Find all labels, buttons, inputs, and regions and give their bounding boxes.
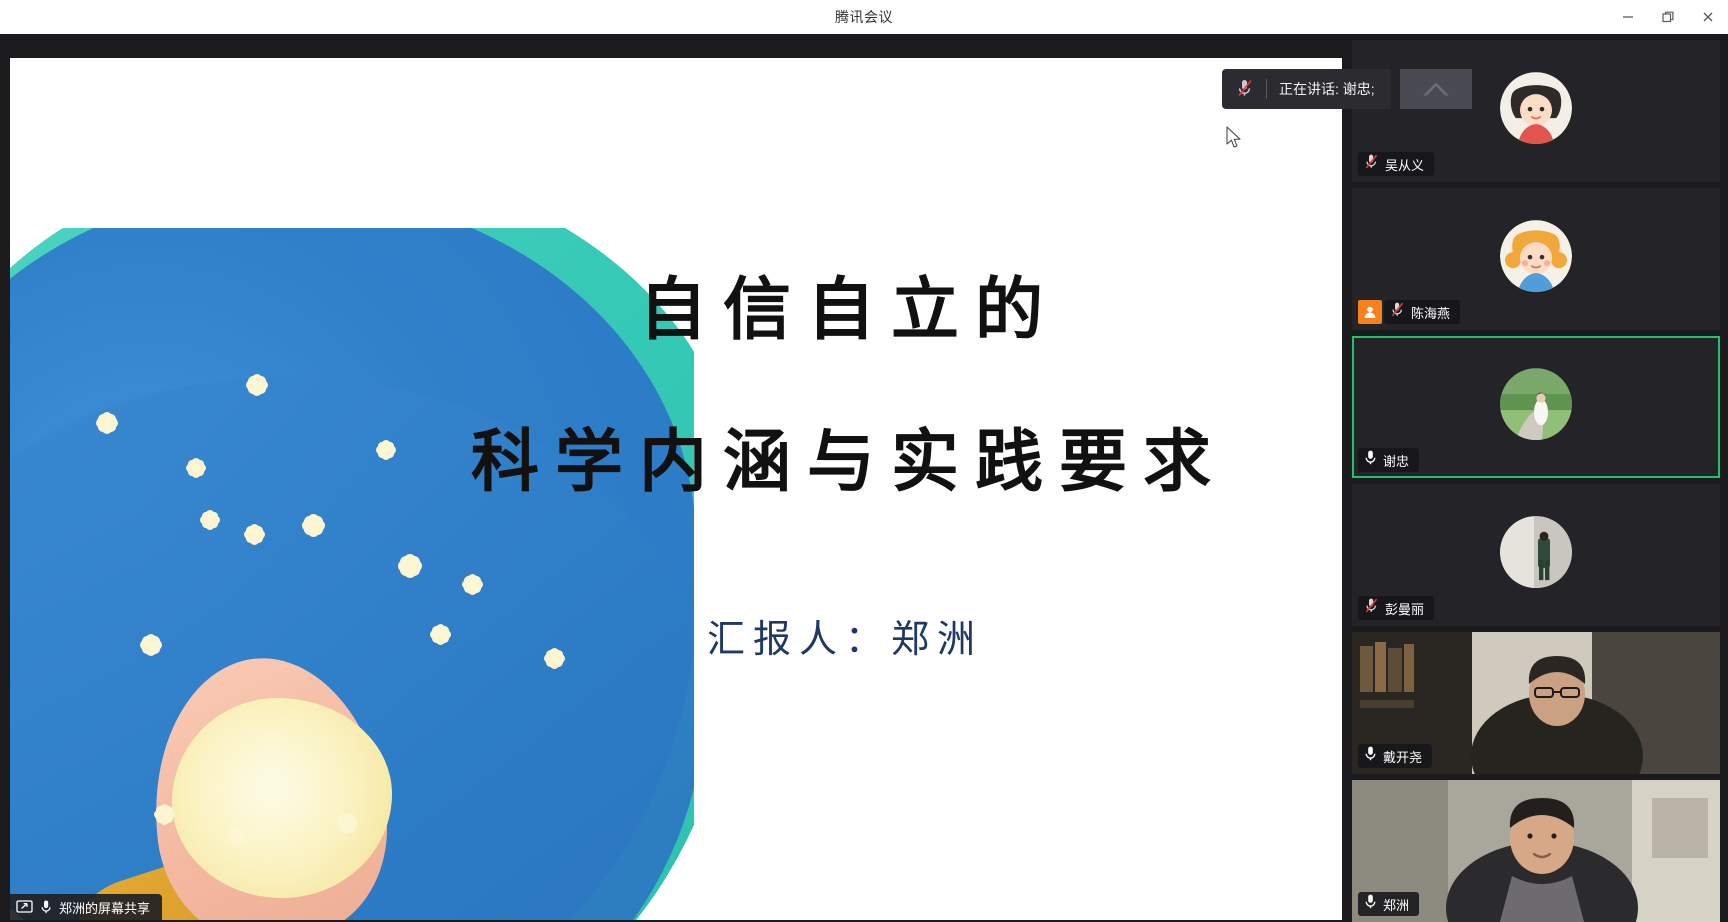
minimize-button[interactable] xyxy=(1608,0,1648,34)
host-badge xyxy=(1358,300,1382,324)
participant-tile[interactable]: 陈海燕 xyxy=(1352,188,1720,330)
flower-icon xyxy=(144,638,158,652)
slide-text-block: 自信自立的 科学内涵与实践要求 汇报人：郑洲 xyxy=(340,58,1342,920)
avatar xyxy=(1500,516,1572,588)
mic-on-icon xyxy=(1364,893,1377,915)
participant-name-pill: 陈海燕 xyxy=(1384,300,1460,324)
participant-name-pill: 彭曼丽 xyxy=(1358,596,1434,620)
chevron-collapse-icon xyxy=(1423,83,1449,96)
mouse-cursor xyxy=(1226,126,1243,150)
participant-name-pill: 郑洲 xyxy=(1358,892,1419,916)
participant-tile[interactable]: 吴从义 xyxy=(1352,40,1720,182)
flower-icon xyxy=(230,828,244,842)
participant-name: 彭曼丽 xyxy=(1385,599,1424,618)
flower-icon xyxy=(204,514,216,526)
flower-icon xyxy=(250,378,264,392)
mic-muted-icon xyxy=(1390,301,1405,323)
speaking-toast[interactable]: 正在讲话: 谢忠; xyxy=(1222,69,1391,109)
screen-share-status: 郑洲的屏幕共享 xyxy=(10,894,162,920)
flower-icon xyxy=(158,808,171,821)
flower-icon xyxy=(306,518,321,533)
participant-rail[interactable]: 吴从义 xyxy=(1342,34,1728,920)
toast-collapse-button[interactable] xyxy=(1400,69,1472,109)
participant-name: 郑洲 xyxy=(1383,895,1409,914)
shared-screen[interactable]: 自信自立的 科学内涵与实践要求 汇报人：郑洲 郑洲的屏幕共享 xyxy=(10,58,1342,920)
participant-name-pill: 戴开尧 xyxy=(1358,744,1432,768)
participant-tile[interactable]: 戴开尧 xyxy=(1352,632,1720,774)
participant-name: 吴从义 xyxy=(1385,155,1424,174)
participant-name: 谢忠 xyxy=(1383,451,1409,470)
participant-name: 戴开尧 xyxy=(1383,747,1422,766)
mic-on-icon xyxy=(1364,745,1377,767)
participant-tile[interactable]: 谢忠 xyxy=(1352,336,1720,478)
close-button[interactable] xyxy=(1688,0,1728,34)
flower-icon xyxy=(100,416,114,430)
participant-name: 陈海燕 xyxy=(1411,303,1450,322)
mic-muted-icon xyxy=(1364,597,1379,619)
slide-presenter: 汇报人：郑洲 xyxy=(340,608,1342,663)
speaking-label: 正在讲话: 谢忠; xyxy=(1279,79,1375,99)
avatar xyxy=(1500,220,1572,292)
participant-tile[interactable]: 郑洲 xyxy=(1352,780,1720,922)
restore-button[interactable] xyxy=(1648,0,1688,34)
avatar xyxy=(1500,72,1572,144)
mic-on-icon xyxy=(1364,449,1377,471)
flower-icon xyxy=(248,528,261,541)
participant-name-pill: 吴从义 xyxy=(1358,152,1434,176)
window-title: 腾讯会议 xyxy=(835,7,893,27)
mic-muted-icon xyxy=(1364,153,1379,175)
screen-share-icon xyxy=(16,900,33,915)
toast-divider xyxy=(1266,79,1267,99)
slide-title-line-2: 科学内涵与实践要求 xyxy=(340,406,1342,505)
mic-muted-icon xyxy=(1236,78,1254,101)
mic-on-icon xyxy=(40,899,52,915)
slide-title-line-1: 自信自立的 xyxy=(340,254,1342,353)
screen-share-label: 郑洲的屏幕共享 xyxy=(59,898,150,917)
avatar xyxy=(1500,368,1572,440)
window-controls xyxy=(1608,0,1728,34)
window-titlebar: 腾讯会议 xyxy=(0,0,1728,34)
participant-tile[interactable]: 彭曼丽 xyxy=(1352,484,1720,626)
flower-icon xyxy=(190,462,202,474)
participant-name-pill: 谢忠 xyxy=(1358,448,1419,472)
